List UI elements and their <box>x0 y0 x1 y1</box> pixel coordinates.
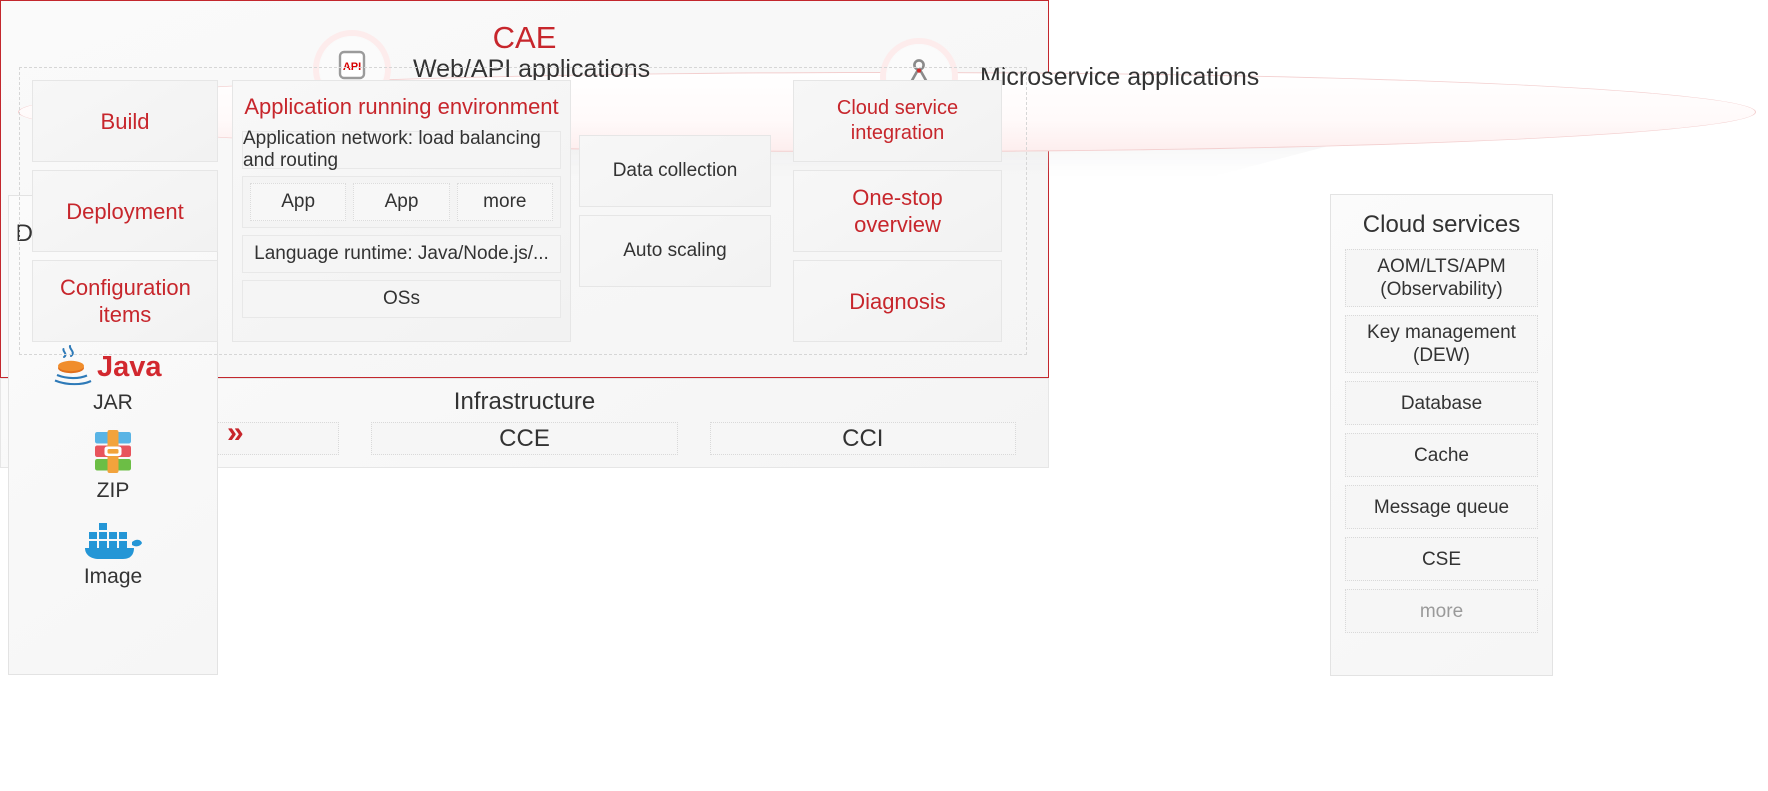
cloud-service-item-more[interactable]: more <box>1345 589 1538 633</box>
cae-block-auto-scaling[interactable]: Auto scaling <box>579 215 771 287</box>
cloud-service-label: Cache <box>1414 444 1469 467</box>
are-app-cell[interactable]: App <box>353 183 449 221</box>
cae-block-label: Build <box>101 108 150 135</box>
deploy-item-caption: JAR <box>93 391 133 415</box>
cloud-service-item-key-management[interactable]: Key management (DEW) <box>1345 315 1538 373</box>
deploy-item-caption: ZIP <box>97 479 130 503</box>
cae-block-label: Cloud service integration <box>823 96 973 146</box>
are-runtime-row[interactable]: Language runtime: Java/Node.js/... <box>242 235 561 273</box>
cae-left-column: Build Deployment Configuration items <box>32 80 218 342</box>
cae-block-diagnosis[interactable]: Diagnosis <box>793 260 1002 342</box>
cae-block-label: Auto scaling <box>623 239 727 263</box>
cae-block-label: Deployment <box>66 198 183 225</box>
cae-block-deployment[interactable]: Deployment <box>32 170 218 252</box>
are-os-row[interactable]: OSs <box>242 280 561 318</box>
deploy-item-zip: ZIP <box>9 429 217 503</box>
infrastructure-item-cce[interactable]: CCE <box>371 422 677 455</box>
deploy-item-image: Image <box>9 517 217 589</box>
cae-middle-column: Application running environment Applicat… <box>232 80 779 342</box>
diagram-canvas: API Web/API applications <box>0 0 1768 791</box>
cloud-service-item-observability[interactable]: AOM/LTS/APM (Observability) <box>1345 249 1538 307</box>
cae-block-label: Data collection <box>613 159 738 183</box>
are-os-label: OSs <box>383 288 420 310</box>
cloud-service-item-database[interactable]: Database <box>1345 381 1538 425</box>
docker-whale-icon <box>82 517 144 561</box>
cloud-service-label: AOM/LTS/APM (Observability) <box>1346 255 1537 301</box>
cae-inner-dashed-container: Build Deployment Configuration items App… <box>19 67 1027 355</box>
cae-block-data-collection[interactable]: Data collection <box>579 135 771 207</box>
cloud-service-item-cse[interactable]: CSE <box>1345 537 1538 581</box>
are-network-label: Application network: load balancing and … <box>243 128 560 172</box>
cloud-service-label: Database <box>1401 392 1482 415</box>
are-title: Application running environment <box>242 94 561 120</box>
are-app-cell-more[interactable]: more <box>457 183 553 221</box>
cae-block-label: Diagnosis <box>849 288 946 315</box>
cloud-service-label: Key management (DEW) <box>1346 321 1537 367</box>
cloud-services-panel: Cloud services AOM/LTS/APM (Observabilit… <box>1330 194 1553 676</box>
cae-block-cloud-service-integration[interactable]: Cloud service integration <box>793 80 1002 162</box>
cae-block-build[interactable]: Build <box>32 80 218 162</box>
application-running-environment-box: Application running environment Applicat… <box>232 80 571 342</box>
cloud-service-item-cache[interactable]: Cache <box>1345 433 1538 477</box>
cae-middle-side-column: Data collection Auto scaling <box>579 80 771 342</box>
cloud-service-item-message-queue[interactable]: Message queue <box>1345 485 1538 529</box>
are-apps-row: App App more <box>242 176 561 228</box>
cloud-service-label: more <box>1420 600 1463 623</box>
are-network-row[interactable]: Application network: load balancing and … <box>242 131 561 169</box>
cae-block-configuration-items[interactable]: Configuration items <box>32 260 218 342</box>
flow-arrow-icon: » <box>227 418 244 448</box>
infrastructure-item-cci[interactable]: CCI <box>710 422 1016 455</box>
cae-right-column: Cloud service integration One-stop overv… <box>793 80 1002 342</box>
are-runtime-label: Language runtime: Java/Node.js/... <box>254 243 549 265</box>
deploy-item-caption: Image <box>84 565 142 589</box>
cae-block-one-stop-overview[interactable]: One-stop overview <box>793 170 1002 252</box>
cloud-service-label: CSE <box>1422 548 1461 571</box>
cae-block-label: Configuration items <box>60 274 190 328</box>
cloud-services-title: Cloud services <box>1345 211 1538 239</box>
are-app-cell[interactable]: App <box>250 183 346 221</box>
cae-block-label: One-stop overview <box>833 184 963 238</box>
zip-archive-icon <box>88 429 138 475</box>
deploy-item-jar: Java JAR <box>9 345 217 415</box>
svg-text:Java: Java <box>97 351 162 383</box>
cloud-service-label: Message queue <box>1374 496 1509 519</box>
